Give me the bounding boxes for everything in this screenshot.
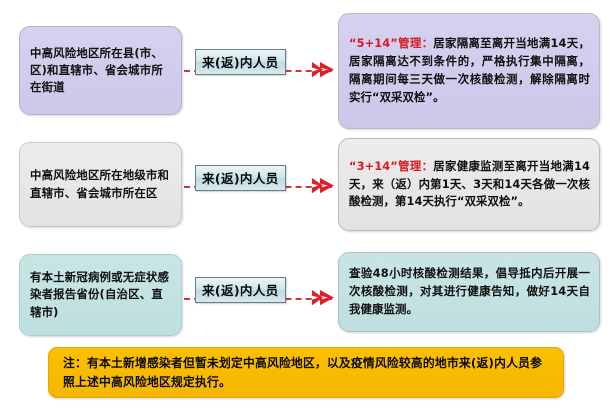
action-text: “5+14”管理：居家隔离至离开当地满14天，居家隔离达不到条件的，严格执行集中… xyxy=(349,35,590,106)
flow-row: 中高风险地区所在地级市和直辖市、省会城市所在区 来(返)内人员 “3+14”管理… xyxy=(0,134,610,238)
connector-label[interactable]: 来(返)内人员 xyxy=(195,49,286,75)
action-box[interactable]: “3+14”管理：居家健康监测至离开当地满14天，来（返）内第1天、3天和14天… xyxy=(338,138,600,231)
note-text: 注：有本土新增感染者但暂未划定中高风险地区，以及疫情风险较高的地市来(返)内人员… xyxy=(63,354,553,391)
condition-text: 中高风险地区所在地级市和直辖市、省会城市所在区 xyxy=(30,167,173,202)
action-tag: “5+14”管理： xyxy=(349,36,433,50)
arrow-right-icon xyxy=(310,173,336,199)
connector-label[interactable]: 来(返)内人员 xyxy=(195,165,286,191)
arrow-right-icon xyxy=(310,285,336,311)
action-text: “3+14”管理：居家健康监测至离开当地满14天，来（返）内第1天、3天和14天… xyxy=(349,158,590,211)
condition-text: 中高风险地区所在县(市、区)和直辖市、省会城市所在街道 xyxy=(30,45,173,97)
action-tag: “3+14”管理： xyxy=(349,159,433,173)
condition-box[interactable]: 有本土新冠病例或无症状感染者报告省份(自治区、直辖市) xyxy=(19,254,182,336)
action-text: 查验48小时核酸检测结果，倡导抵内后开展一次核酸检测，对其进行健康告知，做好14… xyxy=(349,265,590,318)
condition-text: 有本土新冠病例或无症状感染者报告省份(自治区、直辖市) xyxy=(30,269,173,321)
condition-box[interactable]: 中高风险地区所在地级市和直辖市、省会城市所在区 xyxy=(19,142,182,227)
condition-box[interactable]: 中高风险地区所在县(市、区)和直辖市、省会城市所在街道 xyxy=(19,26,182,115)
arrow-right-icon xyxy=(310,57,336,83)
flowchart-canvas: 中高风险地区所在县(市、区)和直辖市、省会城市所在街道 来(返)内人员 “5+1… xyxy=(0,0,610,412)
connector-label[interactable]: 来(返)内人员 xyxy=(195,277,286,303)
action-body: 查验48小时核酸检测结果，倡导抵内后开展一次核酸检测，对其进行健康告知，做好14… xyxy=(349,266,590,316)
note-box: 注：有本土新增感染者但暂未划定中高风险地区，以及疫情风险较高的地市来(返)内人员… xyxy=(48,347,564,398)
action-box[interactable]: 查验48小时核酸检测结果，倡导抵内后开展一次核酸检测，对其进行健康告知，做好14… xyxy=(338,252,600,332)
flow-row: 中高风险地区所在县(市、区)和直辖市、省会城市所在街道 来(返)内人员 “5+1… xyxy=(0,8,610,126)
flow-row: 有本土新冠病例或无症状感染者报告省份(自治区、直辖市) 来(返)内人员 查验48… xyxy=(0,248,610,342)
action-box[interactable]: “5+14”管理：居家隔离至离开当地满14天，居家隔离达不到条件的，严格执行集中… xyxy=(338,13,600,129)
